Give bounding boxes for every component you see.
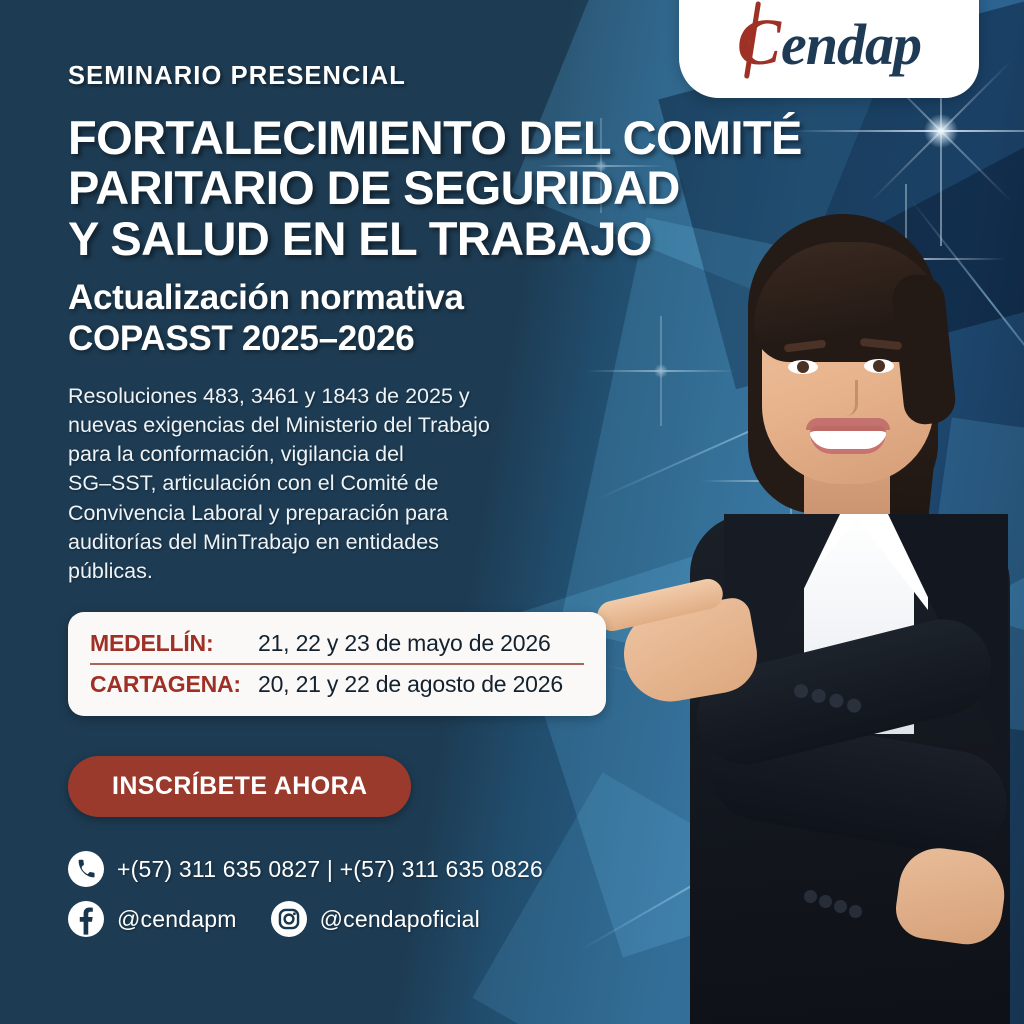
facebook-handle: @cendapm [117, 906, 237, 933]
date-row-medellin: MEDELLÍN: 21, 22 y 23 de mayo de 2026 [90, 624, 584, 663]
description-line: para la conformación, vigilancia del [68, 440, 588, 469]
cendap-logo[interactable]: C endap [679, 0, 979, 98]
city-label: MEDELLÍN: [90, 630, 258, 657]
eyebrow-label: SEMINARIO PRESENCIAL [68, 64, 640, 90]
description-line: auditorías del MinTrabajo en entidades [68, 528, 588, 557]
description-line: Resoluciones 483, 3461 y 1843 de 2025 y [68, 382, 588, 411]
headline-line: FORTALECIMIENTO DEL COMITÉ [68, 112, 640, 163]
seminar-promo-poster: C endap SEMINARIO PRESENCIAL FORTALECIMI… [0, 0, 1024, 1024]
contact-block: +(57) 311 635 0827 | +(57) 311 635 0826 … [68, 851, 640, 937]
description-line: nuevas exigencias del Ministerio del Tra… [68, 411, 588, 440]
social-row: @cendapm @cendapoficial [68, 901, 640, 937]
headline-line: Y SALUD EN EL TRABAJO [68, 213, 640, 264]
phone-numbers: +(57) 311 635 0827 | +(57) 311 635 0826 [117, 856, 543, 883]
logo-c-glyph: C [737, 10, 781, 76]
instagram-icon [271, 901, 307, 937]
description-line: públicas. [68, 557, 588, 586]
city-dates: 21, 22 y 23 de mayo de 2026 [258, 630, 551, 657]
facebook-link[interactable]: @cendapm [68, 901, 237, 937]
subtitle-line: COPASST 2025–2026 [68, 319, 640, 360]
page-title: FORTALECIMIENTO DEL COMITÉ PARITARIO DE … [68, 112, 640, 265]
city-label: CARTAGENA: [90, 671, 258, 698]
logo-wordmark: C endap [737, 2, 921, 76]
register-button[interactable]: INSCRÍBETE AHORA [68, 756, 411, 817]
city-dates: 20, 21 y 22 de agosto de 2026 [258, 671, 563, 698]
description-text: Resoluciones 483, 3461 y 1843 de 2025 y … [68, 382, 588, 587]
date-row-cartagena: CARTAGENA: 20, 21 y 22 de agosto de 2026 [90, 663, 584, 704]
description-line: Convivencia Laboral y preparación para [68, 499, 588, 528]
dates-card: MEDELLÍN: 21, 22 y 23 de mayo de 2026 CA… [68, 612, 606, 716]
poster-content: SEMINARIO PRESENCIAL FORTALECIMIENTO DEL… [0, 0, 640, 937]
facebook-icon [68, 901, 104, 937]
instagram-link[interactable]: @cendapoficial [271, 901, 480, 937]
instagram-handle: @cendapoficial [320, 906, 480, 933]
headline-line: PARITARIO DE SEGURIDAD [68, 162, 640, 213]
subtitle: Actualización normativa COPASST 2025–202… [68, 278, 640, 359]
logo-text: endap [781, 16, 921, 74]
subtitle-line: Actualización normativa [68, 278, 640, 319]
description-line: SG–SST, articulación con el Comité de [68, 469, 588, 498]
phone-row[interactable]: +(57) 311 635 0827 | +(57) 311 635 0826 [68, 851, 640, 887]
presenter-photo [598, 214, 1024, 1024]
phone-icon [68, 851, 104, 887]
